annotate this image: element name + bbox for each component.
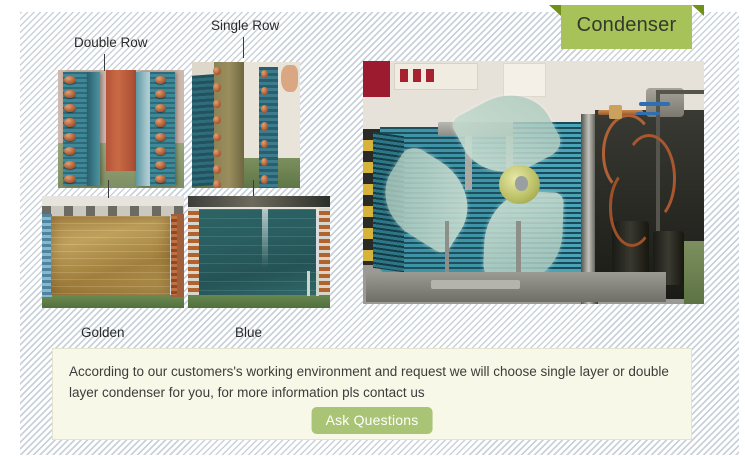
leader-line-golden bbox=[108, 180, 109, 198]
fan-blades bbox=[401, 114, 572, 265]
hero-condenser-unit-photo[interactable] bbox=[363, 61, 704, 304]
info-note-card: According to our customers's working env… bbox=[52, 348, 692, 440]
leader-line-blue bbox=[253, 180, 254, 196]
ask-questions-button[interactable]: Ask Questions bbox=[312, 407, 433, 434]
ribbon-title: Condenser bbox=[561, 14, 692, 37]
thumbnail-double-row[interactable] bbox=[58, 70, 184, 188]
ribbon-tail-left-icon bbox=[549, 5, 561, 16]
note-text: According to our customers's working env… bbox=[69, 361, 677, 403]
single-row-photo bbox=[192, 62, 300, 188]
blue-photo bbox=[188, 196, 330, 308]
page-stage: Condenser Double Row Single Row Golden B… bbox=[0, 0, 745, 470]
condenser-ribbon-banner: Condenser bbox=[561, 5, 692, 49]
callout-label-single-row: Single Row bbox=[211, 18, 279, 33]
thumbnail-blue[interactable] bbox=[188, 196, 330, 308]
callout-label-double-row: Double Row bbox=[74, 35, 148, 50]
leader-line-single-row bbox=[243, 37, 244, 58]
double-row-photo bbox=[58, 70, 184, 188]
thumbnail-single-row[interactable] bbox=[192, 62, 300, 188]
ribbon-tail-right-icon bbox=[692, 5, 704, 16]
thumbnail-golden[interactable] bbox=[42, 196, 184, 308]
golden-photo bbox=[42, 196, 184, 308]
leader-line-double-row bbox=[104, 54, 105, 71]
callout-label-golden: Golden bbox=[81, 325, 125, 340]
callout-label-blue: Blue bbox=[235, 325, 262, 340]
